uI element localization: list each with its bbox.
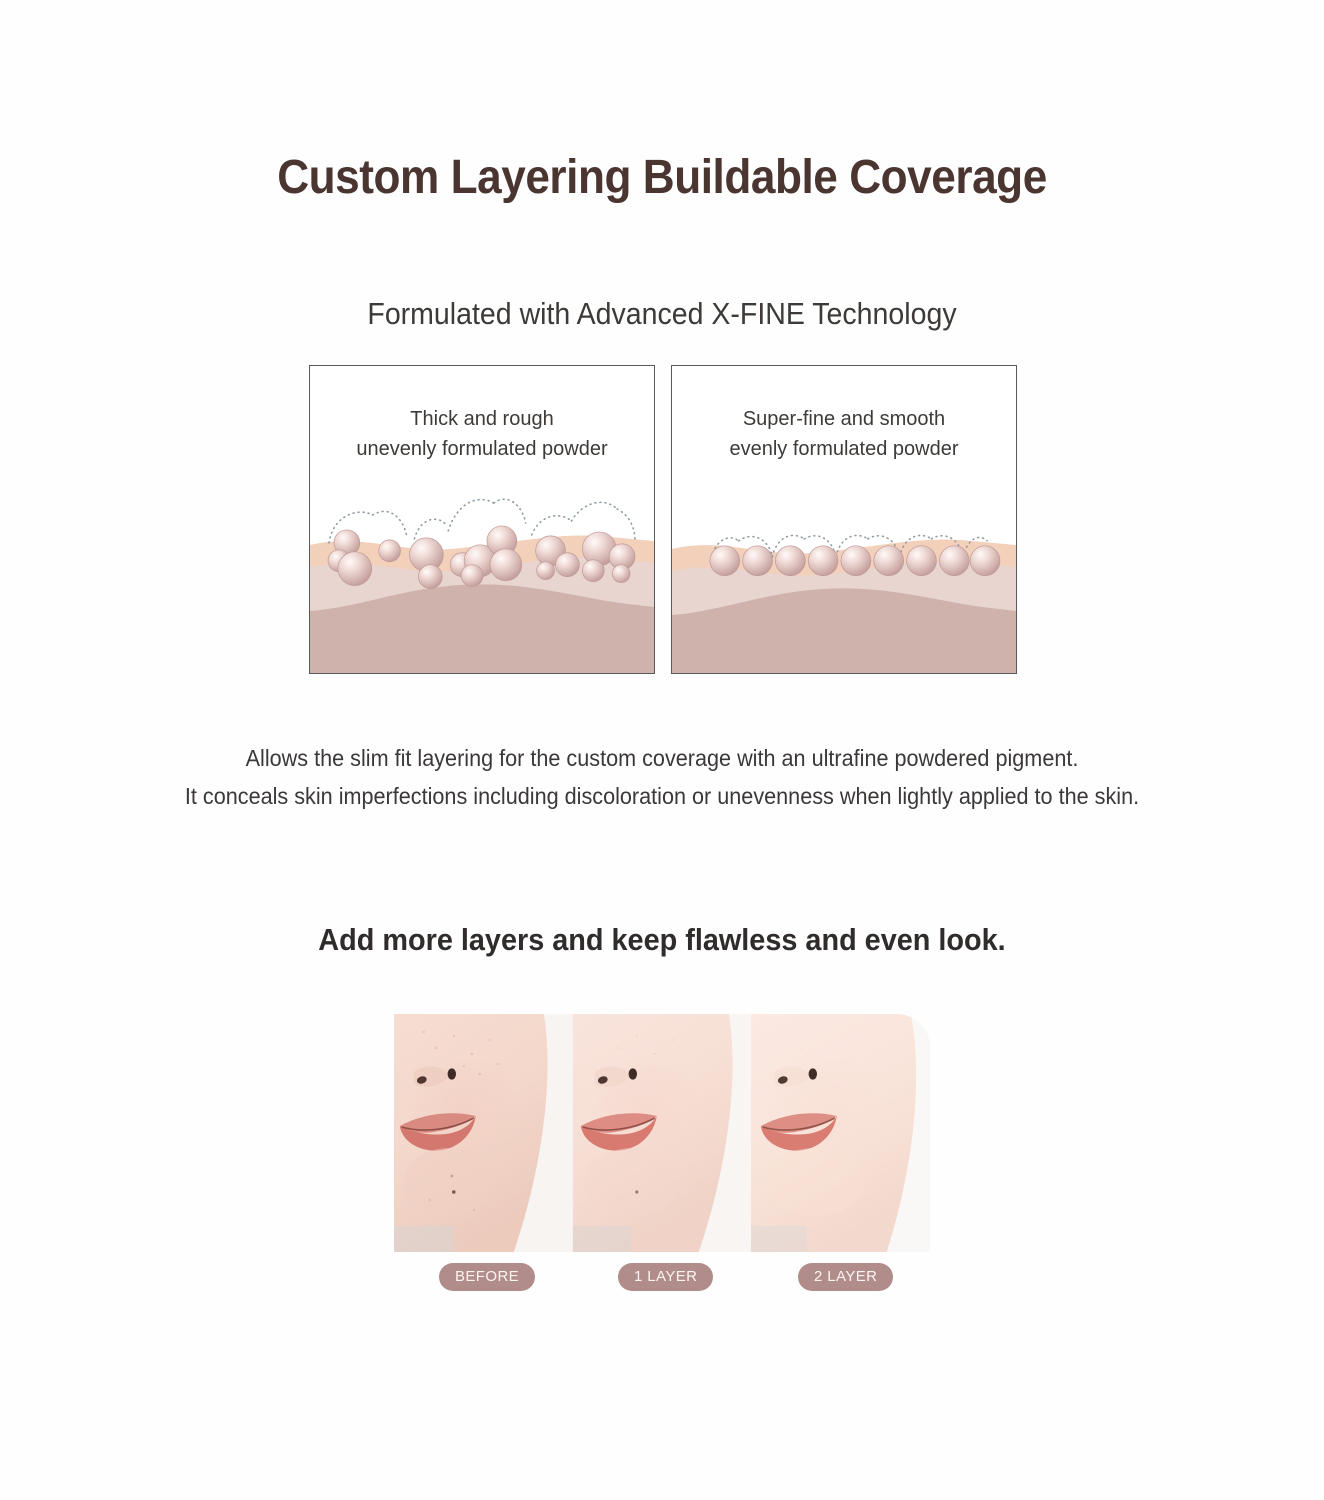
photo-before xyxy=(394,1014,573,1252)
before-after-photo-strip xyxy=(394,1014,930,1252)
product-description: Allows the slim fit layering for the cus… xyxy=(40,740,1285,816)
badge-before: BEFORE xyxy=(439,1263,535,1291)
product-detail-page: Custom Layering Buildable Coverage Formu… xyxy=(0,0,1324,1500)
panel-super-fine-caption: Super-fine and smooth evenly formulated … xyxy=(672,404,1016,465)
photo-strip-labels: BEFORE 1 LAYER 2 LAYER xyxy=(394,1263,930,1291)
layering-heading: Add more layers and keep flawless and ev… xyxy=(46,922,1277,958)
panel-thick-rough-caption: Thick and rough unevenly formulated powd… xyxy=(310,404,654,465)
photo-one-layer xyxy=(573,1014,752,1252)
badge-one-layer: 1 LAYER xyxy=(618,1263,713,1291)
powder-comparison-diagram: Thick and rough unevenly formulated powd… xyxy=(309,365,1017,674)
panel-thick-rough: Thick and rough unevenly formulated powd… xyxy=(309,365,655,674)
panel-super-fine: Super-fine and smooth evenly formulated … xyxy=(671,365,1017,674)
page-title: Custom Layering Buildable Coverage xyxy=(53,150,1271,205)
page-subtitle: Formulated with Advanced X-FINE Technolo… xyxy=(53,296,1271,332)
badge-two-layer: 2 LAYER xyxy=(798,1263,893,1291)
photo-two-layer xyxy=(751,1014,930,1252)
